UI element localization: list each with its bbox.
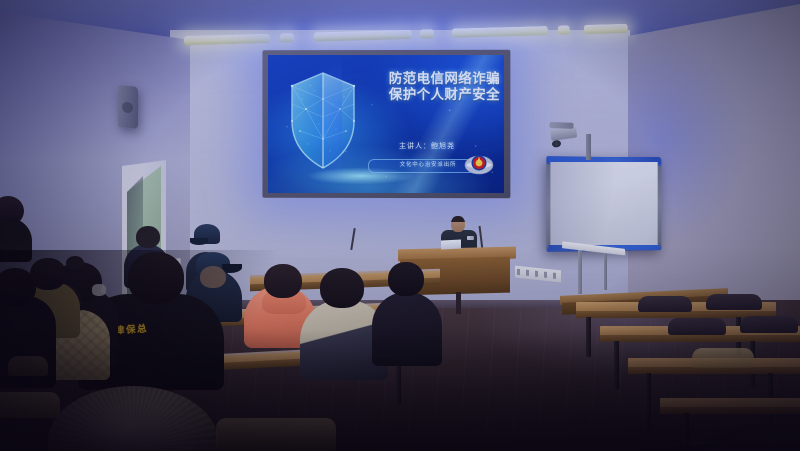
chair-r3a[interactable] — [692, 348, 754, 368]
ceiling-light-1 — [184, 34, 270, 45]
chair-mid-left[interactable] — [8, 356, 48, 376]
slide-title-line1: 防范电信网络诈骗 — [364, 72, 500, 88]
ceiling-light-6 — [558, 25, 570, 34]
head — [0, 268, 36, 306]
head — [200, 266, 226, 288]
presenter-uniform-insignia — [467, 236, 474, 240]
wall-speaker-icon — [118, 85, 138, 129]
slide-title-line2: 保护个人财产安全 — [364, 88, 500, 104]
desk-edge — [600, 335, 800, 342]
whiteboard-support-pole-right — [604, 250, 607, 290]
desk-edge — [660, 407, 800, 414]
ceiling-light-3 — [314, 30, 412, 42]
whiteboard-support-pole-left — [578, 250, 582, 294]
shield-icon — [286, 69, 360, 173]
desk-leg — [586, 317, 591, 357]
desk-leg — [646, 373, 651, 431]
ceiling-light-2 — [280, 33, 294, 42]
desk-edge — [628, 367, 800, 374]
slide-presenter-label: 主讲人：鲍旭尧 — [372, 141, 482, 151]
head — [136, 226, 160, 248]
ceiling-light-7 — [584, 24, 628, 34]
slide-title: 防范电信网络诈骗 保护个人财产安全 — [364, 72, 500, 103]
police-badge-icon — [464, 151, 494, 177]
face-mask — [92, 284, 106, 296]
hair-bun — [66, 256, 84, 270]
projector-arm — [586, 134, 591, 160]
projection-screen: 防范电信网络诈骗 保护个人财产安全 主讲人：鲍旭尧 文化中心治安派出所 — [268, 55, 504, 193]
desk-leg — [614, 341, 619, 389]
chair-front-left[interactable] — [0, 392, 60, 418]
head — [264, 264, 302, 298]
desk-leg — [396, 359, 401, 403]
projector-neck — [549, 122, 573, 129]
desk-leg — [684, 413, 689, 451]
presenter-desk-leg — [456, 292, 461, 314]
ceiling-light-4 — [420, 29, 434, 38]
presenter-head — [451, 216, 465, 232]
ceiling-light-5 — [452, 26, 548, 38]
whiteboard-shading — [550, 160, 657, 248]
head — [388, 262, 424, 296]
chair-r2b[interactable] — [740, 316, 798, 333]
chair-r1a[interactable] — [638, 296, 692, 312]
head — [320, 268, 364, 308]
head — [128, 252, 184, 304]
cap-brim — [190, 238, 208, 245]
chair-r1b[interactable] — [706, 294, 762, 310]
torso — [372, 292, 442, 366]
chair-front-right[interactable] — [216, 418, 336, 451]
presenter-laptop — [441, 239, 461, 249]
classroom-lecture-scene: 防范电信网络诈骗 保护个人财产安全 主讲人：鲍旭尧 文化中心治安派出所 — [0, 0, 800, 451]
whiteboard-top-trim — [548, 157, 659, 162]
chair-r2a[interactable] — [668, 318, 726, 335]
